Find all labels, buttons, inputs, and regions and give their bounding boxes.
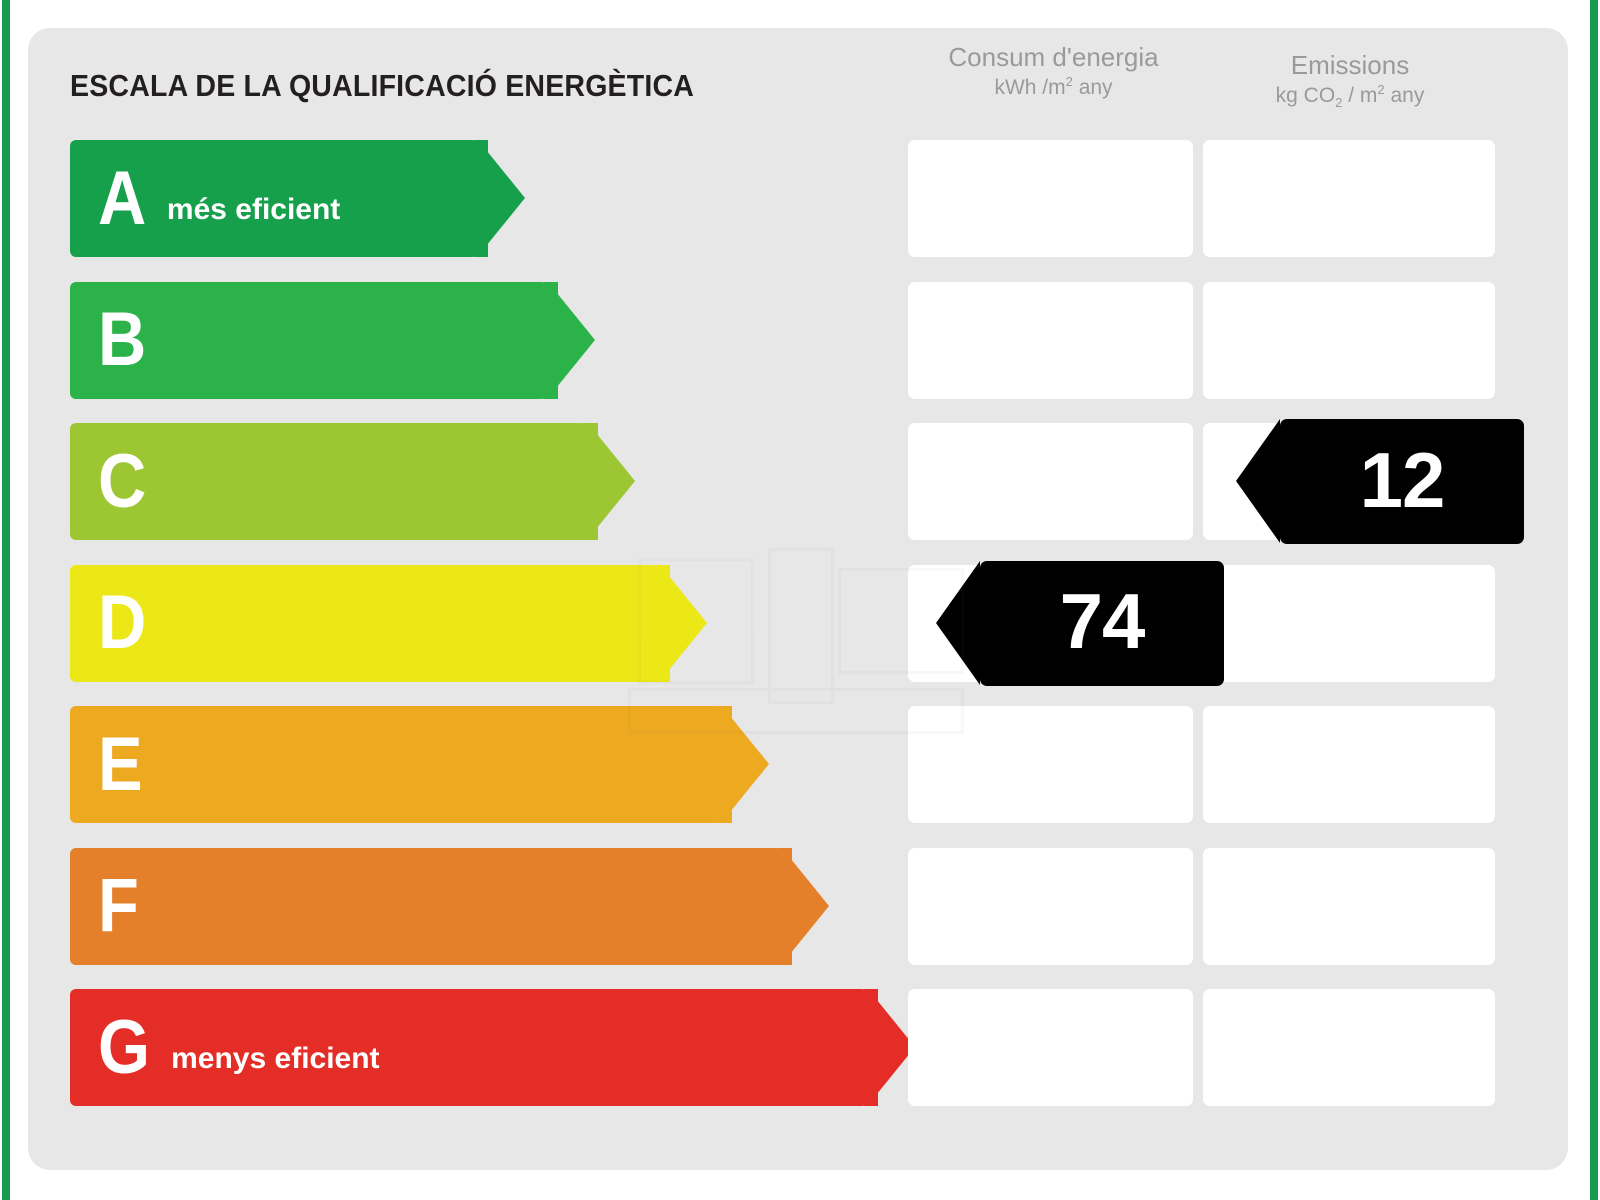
column-header-energy-unit: kWh /m2 any bbox=[912, 74, 1195, 101]
left-green-rail bbox=[2, 0, 10, 1200]
band-letter-d: D bbox=[98, 585, 146, 661]
column-header-emissions: Emissions kg CO2 / m2 any bbox=[1205, 50, 1495, 111]
rating-row-d: D74 bbox=[28, 565, 1568, 682]
rating-row-b: B bbox=[28, 282, 1568, 399]
energy-band-d: D bbox=[70, 565, 660, 682]
energy-cell-f bbox=[908, 848, 1193, 965]
energy-certificate-scale: ESCALA DE LA QUALIFICACIÓ ENERGÈTICA Con… bbox=[0, 0, 1600, 1200]
emissions-cell-f bbox=[1203, 848, 1495, 965]
emissions-cell-b bbox=[1203, 282, 1495, 399]
right-green-rail bbox=[1590, 0, 1598, 1200]
band-note-a: més eficient bbox=[167, 193, 340, 227]
column-header-emissions-unit: kg CO2 / m2 any bbox=[1205, 82, 1495, 111]
energy-cell-e bbox=[908, 706, 1193, 823]
energy-band-e: E bbox=[70, 706, 722, 823]
band-arrow-tip-icon bbox=[660, 565, 707, 681]
emissions-cell-a bbox=[1203, 140, 1495, 257]
column-header-emissions-title: Emissions bbox=[1205, 50, 1495, 82]
band-letter-a: A bbox=[98, 161, 146, 237]
band-note-g: menys eficient bbox=[171, 1042, 379, 1076]
energy-value: 74 bbox=[1060, 582, 1145, 664]
emissions-value-marker: 12 bbox=[1280, 419, 1524, 544]
energy-cell-c bbox=[908, 423, 1193, 540]
band-arrow-tip-icon bbox=[478, 140, 525, 256]
band-letter-b: B bbox=[98, 302, 146, 378]
marker-arrow-tip-icon bbox=[936, 561, 980, 685]
band-arrow-tip-icon bbox=[782, 848, 829, 964]
page-title: ESCALA DE LA QUALIFICACIÓ ENERGÈTICA bbox=[70, 68, 714, 104]
energy-cell-b bbox=[908, 282, 1193, 399]
rating-row-g: Gmenys eficient bbox=[28, 989, 1568, 1106]
energy-cell-g bbox=[908, 989, 1193, 1106]
emissions-cell-d bbox=[1203, 565, 1495, 682]
rating-row-e: E bbox=[28, 706, 1568, 823]
energy-band-g: Gmenys eficient bbox=[70, 989, 868, 1106]
energy-value-marker: 74 bbox=[980, 561, 1224, 686]
band-arrow-tip-icon bbox=[548, 282, 595, 398]
energy-band-a: Amés eficient bbox=[70, 140, 478, 257]
emissions-cell-e bbox=[1203, 706, 1495, 823]
band-arrow-tip-icon bbox=[722, 706, 769, 822]
column-header-energy-title: Consum d'energia bbox=[912, 42, 1195, 74]
rating-row-f: F bbox=[28, 848, 1568, 965]
energy-band-c: C bbox=[70, 423, 588, 540]
band-letter-c: C bbox=[98, 444, 146, 520]
rating-row-c: C12 bbox=[28, 423, 1568, 540]
rating-row-a: Amés eficient bbox=[28, 140, 1568, 257]
emissions-value: 12 bbox=[1360, 441, 1445, 523]
energy-band-b: B bbox=[70, 282, 548, 399]
column-header-energy: Consum d'energia kWh /m2 any bbox=[912, 42, 1195, 100]
band-letter-e: E bbox=[98, 727, 143, 803]
energy-band-f: F bbox=[70, 848, 782, 965]
band-letter-f: F bbox=[98, 868, 139, 944]
band-letter-g: G bbox=[98, 1010, 150, 1086]
band-arrow-tip-icon bbox=[588, 423, 635, 539]
energy-cell-a bbox=[908, 140, 1193, 257]
scale-panel: ESCALA DE LA QUALIFICACIÓ ENERGÈTICA Con… bbox=[28, 28, 1568, 1170]
marker-arrow-tip-icon bbox=[1236, 419, 1280, 543]
emissions-cell-g bbox=[1203, 989, 1495, 1106]
